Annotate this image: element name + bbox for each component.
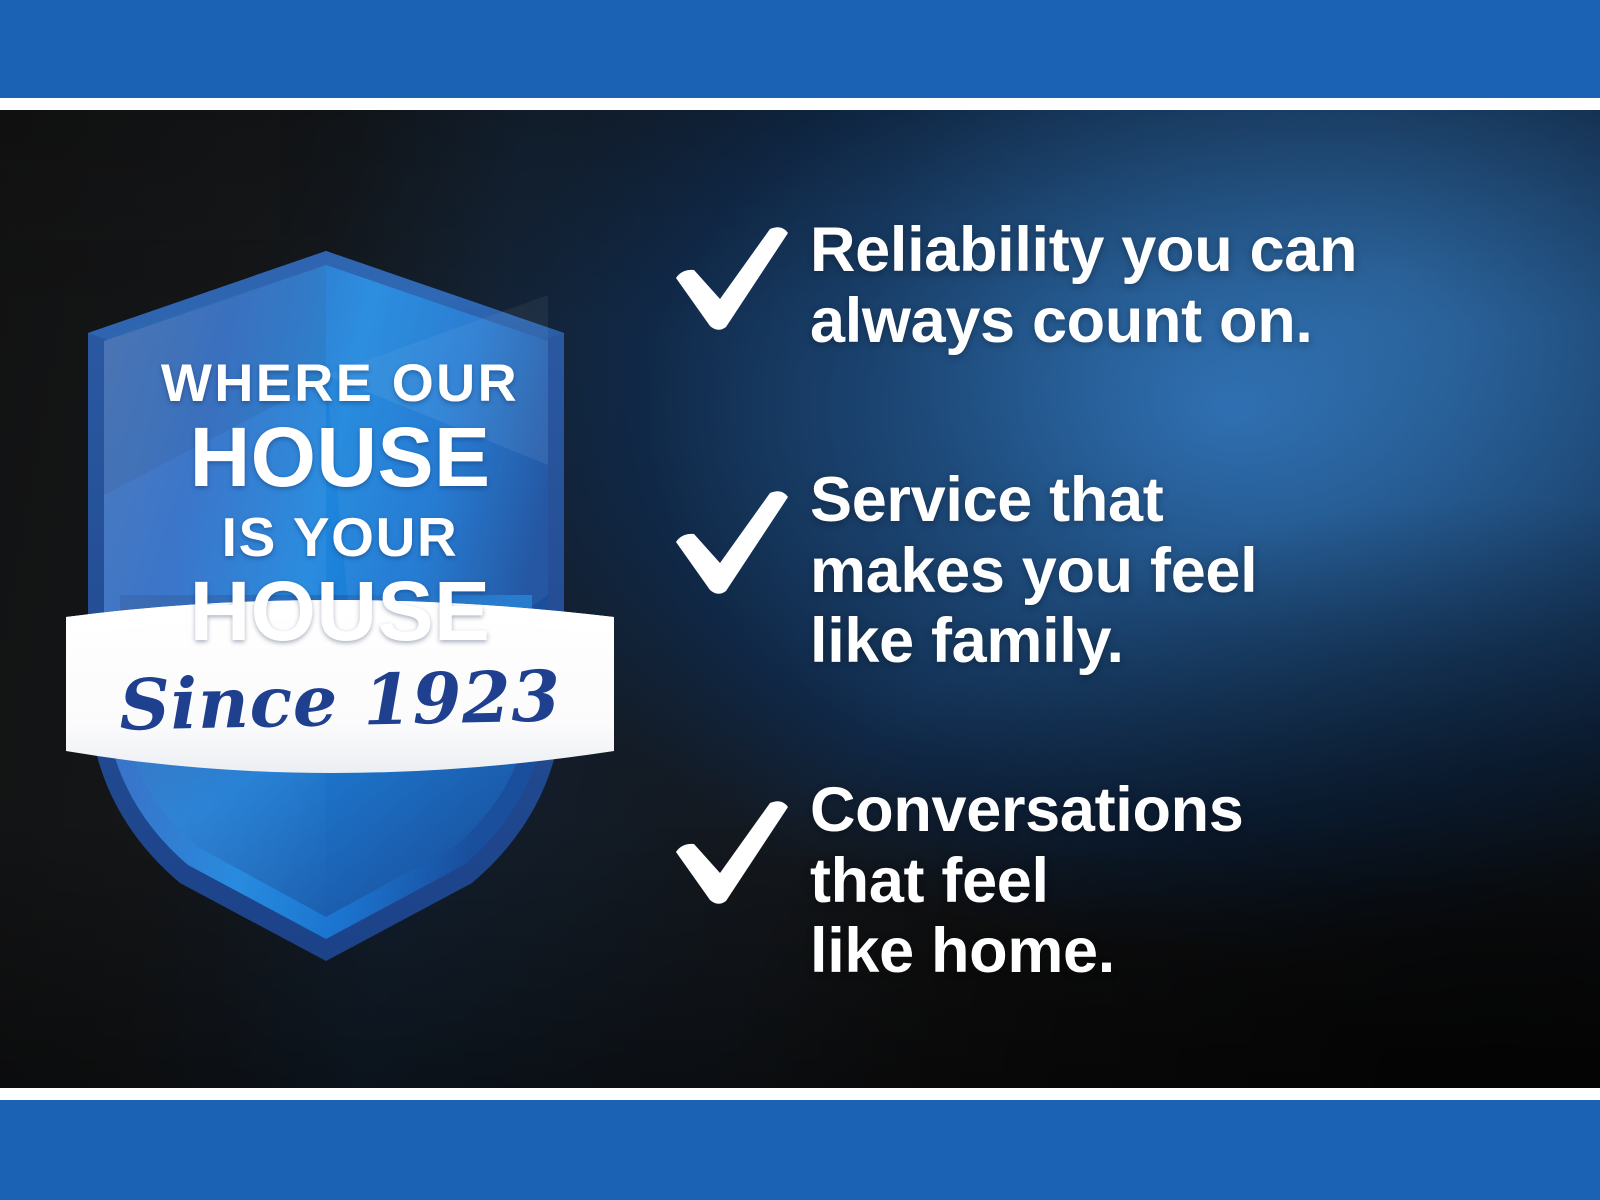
promo-graphic: WHERE OUR HOUSE IS YOUR HOUSE Since 1923… xyxy=(0,0,1600,1200)
brand-bar-top xyxy=(0,0,1600,98)
divider-bottom xyxy=(0,1088,1600,1100)
list-item: Service that makes you feel like family. xyxy=(660,465,1257,677)
list-item: Conversations that feel like home. xyxy=(660,775,1244,987)
check-icon xyxy=(660,775,810,909)
check-icon xyxy=(660,465,810,599)
list-item-label: Service that makes you feel like family. xyxy=(810,465,1257,677)
brand-bar-bottom xyxy=(0,1100,1600,1200)
divider-top xyxy=(0,98,1600,110)
list-item: Reliability you can always count on. xyxy=(660,215,1357,356)
benefits-list: Reliability you can always count on. Ser… xyxy=(660,110,1560,1088)
list-item-label: Reliability you can always count on. xyxy=(810,215,1357,356)
shield-emblem: WHERE OUR HOUSE IS YOUR HOUSE Since 1923 xyxy=(60,165,620,965)
check-icon xyxy=(660,215,810,335)
list-item-label: Conversations that feel like home. xyxy=(810,775,1244,987)
